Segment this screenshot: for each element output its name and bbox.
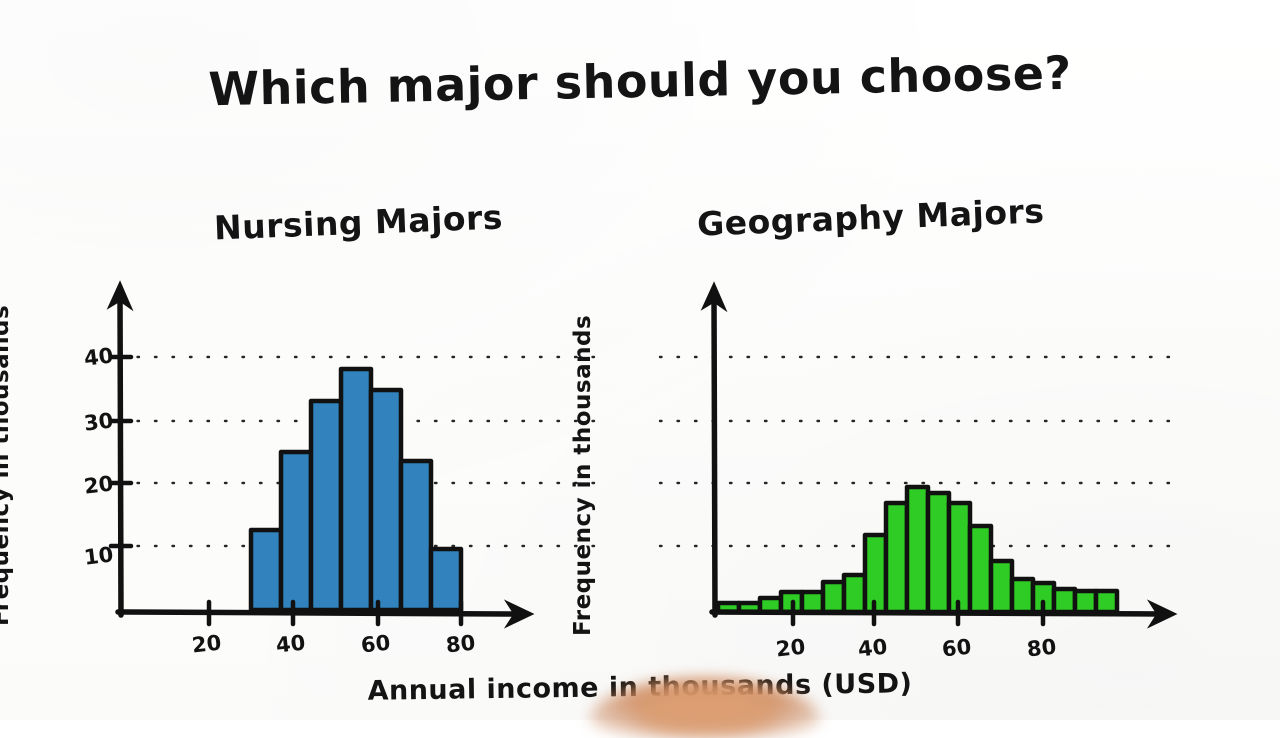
- bar: [844, 575, 865, 612]
- nursing-xtick-40: 40: [275, 631, 307, 658]
- bar: [949, 503, 970, 612]
- bar: [1096, 591, 1117, 612]
- geography-xtick-40: 40: [857, 635, 889, 662]
- bar: [823, 582, 844, 612]
- bar: [1012, 579, 1033, 612]
- bar: [251, 530, 281, 610]
- bar: [281, 452, 311, 610]
- nursing-bars: [251, 369, 461, 610]
- bar: [371, 390, 401, 610]
- nursing-ytick-10: 10: [83, 542, 115, 569]
- geography-bars: [718, 487, 1117, 612]
- geography-xtick-60: 60: [941, 635, 973, 662]
- bar: [802, 592, 823, 612]
- bar: [886, 503, 907, 612]
- geography-y-axis: [704, 285, 724, 615]
- bar: [311, 401, 341, 610]
- bar: [928, 493, 949, 612]
- nursing-xtick-20: 20: [191, 631, 223, 658]
- nursing-ytick-30: 30: [83, 408, 115, 435]
- geography-chart-panel: Geography Majors Frequency in thousands: [560, 0, 1200, 720]
- nursing-ytick-40: 40: [83, 343, 115, 370]
- bar: [970, 526, 991, 612]
- bar: [401, 461, 431, 610]
- bar: [991, 561, 1012, 612]
- bar: [1075, 591, 1096, 612]
- bar: [431, 549, 461, 610]
- nursing-ytick-20: 20: [83, 471, 115, 498]
- bar: [1054, 589, 1075, 612]
- bar: [341, 369, 371, 610]
- geography-xtick-20: 20: [775, 635, 807, 662]
- nursing-xtick-60: 60: [360, 631, 392, 658]
- geography-histogram: [560, 0, 1280, 720]
- nursing-xtick-80: 80: [445, 631, 477, 658]
- nursing-chart-panel: Nursing Majors Frequency in thousands: [0, 0, 640, 720]
- bar: [907, 487, 928, 612]
- geography-xtick-80: 80: [1026, 635, 1058, 662]
